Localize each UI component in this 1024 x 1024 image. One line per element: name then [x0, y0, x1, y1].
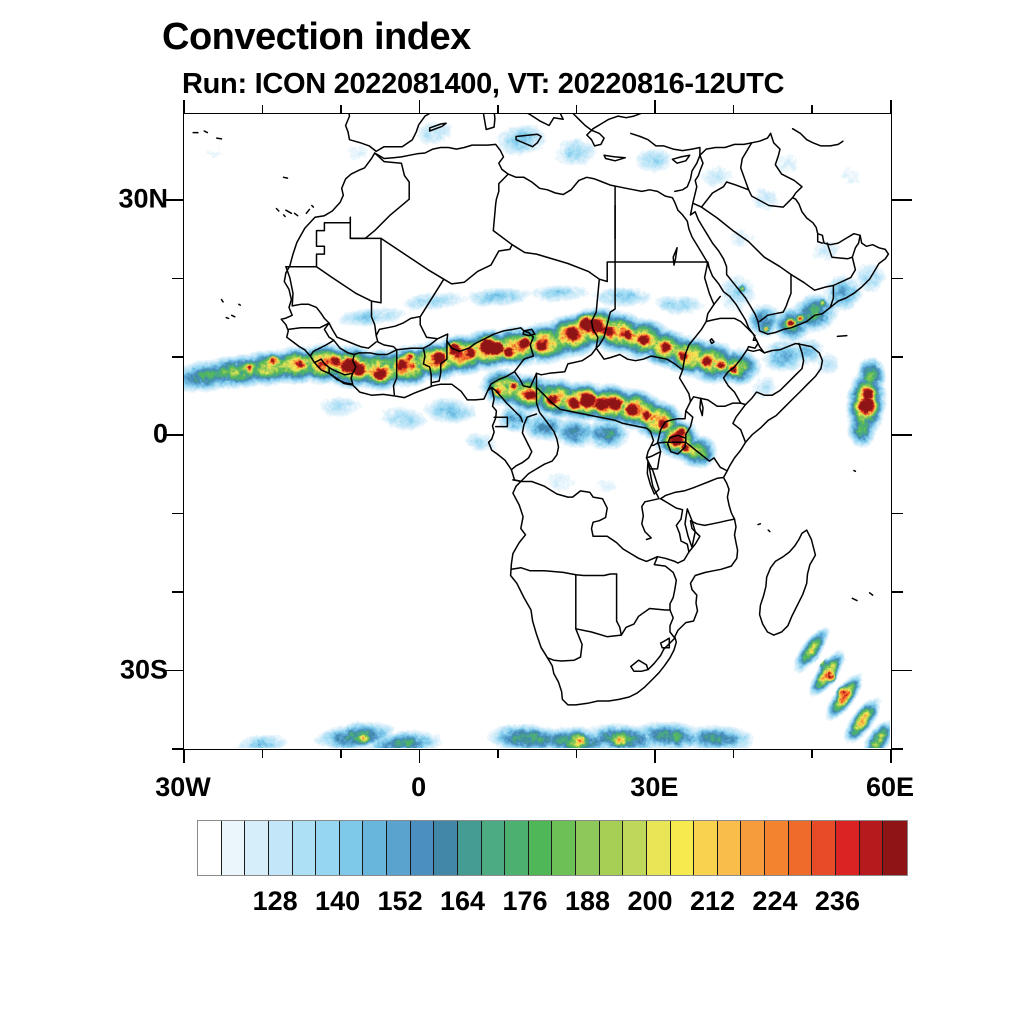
- x-minor-tick-top: [340, 105, 342, 113]
- coastline: [284, 215, 286, 217]
- country-border: [741, 143, 752, 190]
- colorbar-cell: [529, 821, 553, 875]
- country-border: [661, 478, 724, 499]
- colorbar-cell: [387, 821, 411, 875]
- colorbar-cell: [718, 821, 742, 875]
- colorbar-cell: [293, 821, 317, 875]
- country-border: [760, 275, 791, 322]
- colorbar-cell: [316, 821, 340, 875]
- x-major-tick-top: [890, 100, 892, 113]
- y-axis-label: 30S: [100, 654, 168, 685]
- country-border: [288, 323, 329, 329]
- country-border: [661, 638, 670, 648]
- colorbar-tick-label: 200: [627, 886, 672, 917]
- coastline: [668, 435, 686, 454]
- colorbar-tick-label: 212: [690, 886, 735, 917]
- coastline: [631, 133, 700, 191]
- coastline: [430, 123, 447, 131]
- coastline: [312, 206, 314, 208]
- coastline: [344, 113, 746, 151]
- colorbar-cell: [789, 821, 813, 875]
- country-border: [350, 174, 512, 284]
- country-border: [680, 296, 721, 401]
- figure: Convection index Run: ICON 2022081400, V…: [0, 0, 1024, 1024]
- colorbar-cell: [765, 821, 789, 875]
- x-minor-tick: [811, 750, 813, 758]
- country-border: [700, 133, 771, 155]
- colorbar-cell: [812, 821, 836, 875]
- y-minor-tick: [172, 356, 183, 358]
- x-minor-tick: [733, 750, 735, 758]
- country-border: [771, 133, 802, 197]
- colorbar-cell: [741, 821, 765, 875]
- y-major-tick-right: [892, 199, 912, 201]
- country-border: [631, 660, 648, 671]
- coastline: [281, 144, 822, 705]
- colorbar-cell: [458, 821, 482, 875]
- country-border: [420, 279, 448, 341]
- colorbar-cell: [245, 821, 269, 875]
- colorbar-cell: [883, 821, 907, 875]
- country-border: [827, 243, 852, 259]
- colorbar-cell: [222, 821, 246, 875]
- colorbar-cell: [411, 821, 435, 875]
- x-minor-tick: [340, 750, 342, 758]
- y-minor-tick: [172, 591, 183, 593]
- colorbar-cell: [505, 821, 529, 875]
- colorbar-tick-label: 152: [378, 886, 423, 917]
- x-minor-tick-top: [576, 105, 578, 113]
- coastline: [217, 138, 222, 139]
- x-major-tick-top: [654, 100, 656, 113]
- colorbar-tick-label: 164: [440, 886, 485, 917]
- country-border: [537, 373, 651, 431]
- coastline: [672, 155, 689, 163]
- country-border: [689, 519, 735, 552]
- country-border: [596, 348, 682, 370]
- x-minor-tick-top: [733, 105, 735, 113]
- colorbar-tick-label: 236: [815, 886, 860, 917]
- x-minor-tick: [497, 750, 499, 758]
- x-minor-tick: [576, 750, 578, 758]
- country-border: [511, 568, 616, 576]
- coastline: [700, 398, 703, 415]
- x-major-tick-top: [183, 100, 185, 113]
- country-border: [431, 341, 447, 383]
- x-major-tick-top: [419, 100, 421, 113]
- colorbar[interactable]: [197, 820, 908, 876]
- x-axis-label: 30E: [630, 772, 678, 803]
- country-border: [702, 207, 861, 290]
- colorbar-tick-label: 176: [503, 886, 548, 917]
- country-border: [693, 155, 793, 207]
- coastline: [286, 210, 292, 213]
- colorbar-cell: [363, 821, 387, 875]
- country-border: [521, 387, 559, 481]
- map-coastlines-and-borders: [183, 113, 890, 748]
- country-border: [372, 301, 377, 336]
- coastline: [222, 300, 224, 302]
- coastline: [226, 318, 228, 319]
- colorbar-cell: [482, 821, 506, 875]
- coastline: [685, 509, 695, 547]
- country-border: [447, 328, 524, 352]
- country-border: [314, 359, 353, 375]
- country-border: [706, 318, 756, 340]
- country-border: [747, 340, 764, 353]
- y-minor-tick-right: [892, 748, 903, 750]
- coastline: [306, 209, 309, 213]
- x-axis-label: 30W: [155, 772, 211, 803]
- country-border: [286, 217, 350, 266]
- country-border: [658, 442, 727, 470]
- coastline: [837, 336, 846, 337]
- colorbar-cell: [198, 821, 222, 875]
- coastline: [295, 213, 298, 215]
- y-minor-tick-right: [892, 278, 903, 280]
- x-minor-tick: [262, 750, 264, 758]
- country-border: [376, 317, 420, 350]
- country-border: [654, 557, 676, 610]
- map-plot-area: [183, 113, 890, 748]
- country-border: [317, 238, 382, 302]
- colorbar-tick-label: 188: [565, 886, 610, 917]
- colorbar-cell: [647, 821, 671, 875]
- y-major-tick-right: [892, 434, 912, 436]
- country-border: [701, 398, 746, 442]
- coastline: [710, 339, 714, 344]
- y-major-tick-right: [892, 670, 912, 672]
- x-minor-tick-top: [497, 105, 499, 113]
- page-title: Convection index: [162, 16, 471, 59]
- coastline: [768, 530, 770, 532]
- run-valid-time-subtitle: Run: ICON 2022081400, VT: 20220816-12UTC: [182, 68, 784, 101]
- y-minor-tick: [172, 278, 183, 280]
- colorbar-cell: [340, 821, 364, 875]
- country-border: [661, 499, 689, 563]
- colorbar-cell: [434, 821, 458, 875]
- x-major-tick: [890, 750, 892, 763]
- x-minor-tick-top: [811, 105, 813, 113]
- y-axis-label: 0: [100, 419, 168, 450]
- x-axis-label: 60E: [866, 772, 914, 803]
- colorbar-cell: [860, 821, 884, 875]
- colorbar-cell: [836, 821, 860, 875]
- x-major-tick: [419, 750, 421, 763]
- coastline: [793, 129, 843, 146]
- colorbar-cell: [600, 821, 624, 875]
- country-border: [310, 340, 334, 356]
- y-minor-tick-right: [892, 356, 903, 358]
- country-border: [830, 286, 833, 308]
- colorbar-cell: [269, 821, 293, 875]
- colorbar-cell: [552, 821, 576, 875]
- country-border: [351, 350, 397, 384]
- country-border: [548, 575, 583, 661]
- colorbar-tick-label: 224: [752, 886, 797, 917]
- coastline: [204, 131, 207, 133]
- country-border: [423, 348, 431, 386]
- country-border: [329, 369, 353, 385]
- coastline: [284, 177, 288, 178]
- country-border: [615, 262, 709, 268]
- x-major-tick: [183, 750, 185, 763]
- colorbar-cell: [671, 821, 695, 875]
- colorbar-cell: [694, 821, 718, 875]
- y-minor-tick: [172, 748, 183, 750]
- coastline: [483, 113, 495, 130]
- x-major-tick: [654, 750, 656, 763]
- country-border: [686, 411, 693, 442]
- coastline: [758, 524, 760, 525]
- y-minor-tick-right: [892, 591, 903, 593]
- coastline: [604, 155, 625, 161]
- x-axis-label: 0: [411, 772, 426, 803]
- country-border: [746, 344, 804, 405]
- coastline: [854, 471, 856, 472]
- colorbar-cell: [623, 821, 647, 875]
- y-minor-tick: [172, 513, 183, 515]
- coastline: [277, 209, 279, 211]
- country-border: [576, 609, 675, 670]
- country-border: [511, 414, 536, 470]
- coastline: [760, 530, 816, 635]
- coastline: [239, 304, 241, 305]
- coastline: [852, 598, 857, 600]
- coastline: [516, 134, 541, 147]
- country-border: [724, 350, 748, 403]
- country-border: [596, 262, 615, 348]
- x-minor-tick-top: [262, 105, 264, 113]
- colorbar-tick-label: 128: [253, 886, 298, 917]
- y-minor-tick-right: [892, 513, 903, 515]
- country-border: [515, 279, 600, 387]
- coastline: [691, 198, 889, 334]
- country-border: [512, 187, 615, 282]
- y-axis-label: 30N: [100, 184, 168, 215]
- coastline: [870, 593, 873, 595]
- country-border: [350, 153, 409, 238]
- colorbar-cell: [576, 821, 600, 875]
- colorbar-tick-label: 140: [315, 886, 360, 917]
- coastline: [232, 315, 235, 317]
- country-border: [617, 574, 622, 635]
